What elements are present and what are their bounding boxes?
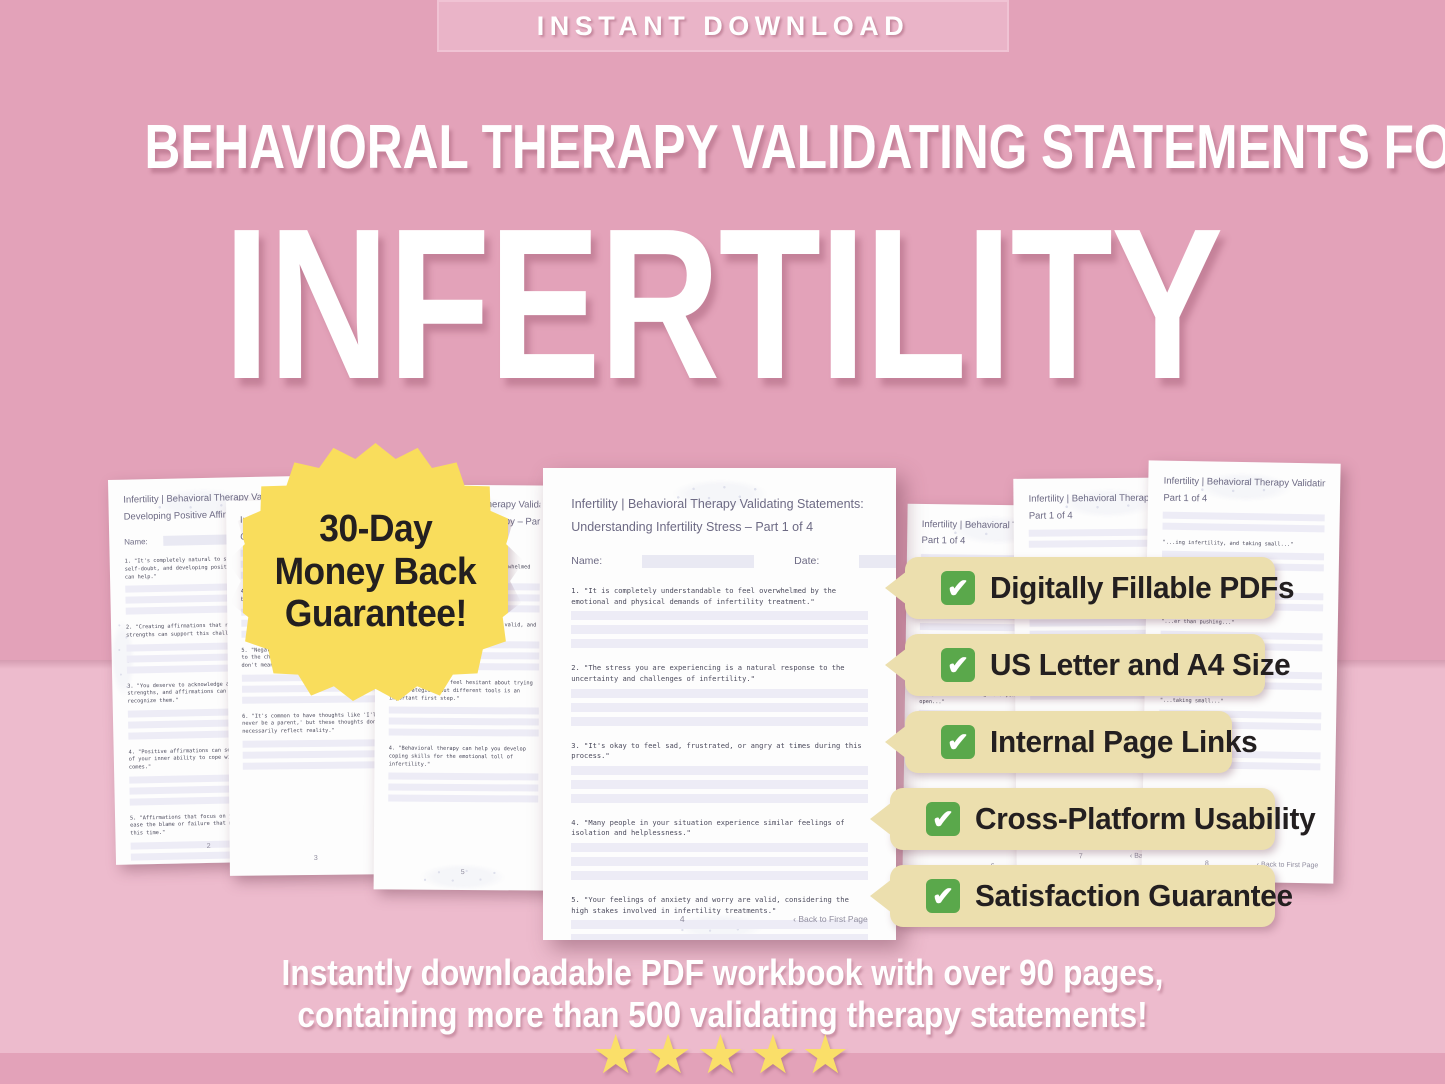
check-icon: ✔	[941, 571, 975, 605]
answer-lines[interactable]	[389, 707, 539, 737]
answer-lines[interactable]	[388, 773, 538, 803]
check-icon: ✔	[926, 879, 960, 913]
product-listing-image: INSTANT DOWNLOAD BEHAVIORAL THERAPY VALI…	[0, 0, 1445, 1084]
name-field[interactable]	[642, 555, 754, 568]
doc-meta-row: Name: Date:	[571, 555, 868, 568]
answer-lines[interactable]	[242, 739, 387, 770]
check-icon: ✔	[941, 648, 975, 682]
date-label: Date:	[794, 555, 819, 567]
page-title: INFERTILITY	[159, 196, 1286, 411]
name-label: Name:	[571, 555, 602, 567]
doc-footer: 4 ‹ Back to First Page	[571, 914, 868, 924]
doc-statement: "...er than pushing..."	[1161, 619, 1322, 629]
doc-page-number: 7	[1079, 853, 1083, 860]
feature-callout-us-letter-and-a4-size: ✔ US Letter and A4 Size	[905, 634, 1265, 696]
product-subtitle: BEHAVIORAL THERAPY VALIDATING STATEMENTS…	[145, 112, 1301, 183]
doc-page-number: 4	[680, 914, 685, 924]
feature-label: Digitally Fillable PDFs	[990, 570, 1294, 606]
answer-lines[interactable]	[571, 766, 868, 803]
feature-label: Cross-Platform Usability	[975, 801, 1315, 837]
doc-header-line2: Understanding Infertility Stress – Part …	[571, 516, 868, 539]
doc-statement: 1. "It is completely understandable to f…	[571, 586, 868, 607]
feature-callout-cross-platform-usability: ✔ Cross-Platform Usability	[890, 788, 1275, 850]
document-preview-center: Infertility | Behavioral Therapy Validat…	[543, 468, 896, 940]
star-rating: ★★★★★	[0, 1028, 1445, 1082]
check-icon: ✔	[941, 725, 975, 759]
answer-lines[interactable]	[571, 689, 868, 726]
doc-header-line2: Part 1 of 4	[1163, 491, 1325, 510]
doc-footer: 5	[388, 869, 538, 877]
doc-page-number: 3	[314, 855, 318, 862]
tagline-line-1: Instantly downloadable PDF workbook with…	[87, 952, 1359, 994]
instant-download-label: INSTANT DOWNLOAD	[537, 11, 909, 42]
doc-statement: 4. "Behavioral therapy can help you deve…	[389, 746, 539, 770]
doc-back-link[interactable]: ‹ Back to First Page	[793, 914, 868, 924]
doc-statement: 4. "Many people in your situation experi…	[571, 818, 868, 839]
answer-lines[interactable]	[1163, 511, 1325, 532]
doc-page-number: 5	[461, 869, 465, 876]
feature-callout-satisfaction-guarantee: ✔ Satisfaction Guarantee	[890, 865, 1275, 927]
feature-label: Satisfaction Guarantee	[975, 878, 1293, 914]
badge-line-3: Guarantee!	[285, 593, 467, 636]
doc-statement: 6. "It's common to have thoughts like 'I…	[242, 712, 387, 737]
feature-callout-internal-page-links: ✔ Internal Page Links	[905, 711, 1232, 773]
date-field[interactable]	[859, 555, 896, 568]
check-icon: ✔	[926, 802, 960, 836]
doc-header-line1: Infertility | Behavioral Therapy Validat…	[571, 493, 868, 516]
doc-page-number: 2	[207, 843, 211, 850]
answer-lines[interactable]	[571, 843, 868, 880]
badge-line-1: 30-Day	[319, 508, 432, 551]
instant-download-banner: INSTANT DOWNLOAD	[437, 0, 1009, 52]
doc-statement: "...ing infertility, and taking small...…	[1163, 539, 1324, 549]
name-label: Name:	[124, 537, 148, 546]
doc-statement: 2. "The stress you are experiencing is a…	[571, 663, 868, 684]
feature-label: Internal Page Links	[990, 724, 1257, 760]
doc-statement: "...taking small..."	[1160, 698, 1321, 708]
answer-lines[interactable]	[571, 611, 868, 648]
doc-statement: 3. "It's okay to feel sad, frustrated, o…	[571, 741, 868, 762]
feature-callout-digitally-fillable-pdfs: ✔ Digitally Fillable PDFs	[905, 557, 1275, 619]
feature-label: US Letter and A4 Size	[990, 647, 1290, 683]
badge-line-2: Money Back	[275, 551, 477, 594]
